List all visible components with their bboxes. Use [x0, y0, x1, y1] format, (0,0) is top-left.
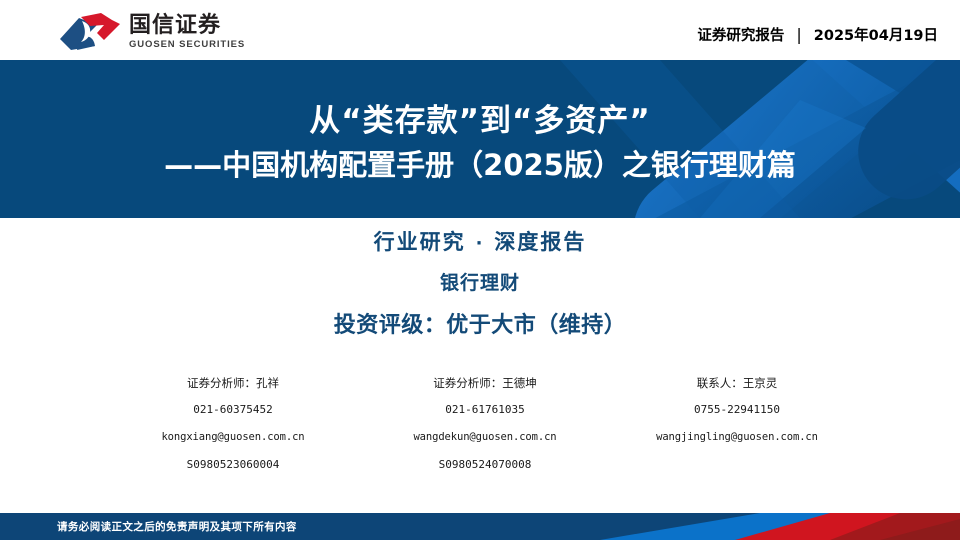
guosen-logo-mark-icon	[57, 11, 123, 53]
analyst-contacts: 证券分析师：孔祥 021-60375452 kongxiang@guosen.c…	[120, 378, 850, 470]
banner-title-block: 从“类存款”到“多资产” ——中国机构配置手册（2025版）之银行理财篇	[0, 60, 960, 218]
analyst-name: 联系人：王京灵	[624, 378, 850, 390]
analyst-email[interactable]: wangjingling@guosen.com.cn	[624, 432, 850, 443]
analyst-phone[interactable]: 0755-22941150	[624, 404, 850, 415]
report-kind-label: 证券研究报告	[697, 24, 784, 45]
analyst-email[interactable]: wangdekun@guosen.com.cn	[372, 432, 598, 443]
sector-label: 银行理财	[0, 274, 960, 293]
analyst-email[interactable]: kongxiang@guosen.com.cn	[120, 432, 346, 443]
title-banner: 从“类存款”到“多资产” ——中国机构配置手册（2025版）之银行理财篇	[0, 60, 960, 218]
meta-dot-separator: ·	[466, 233, 495, 254]
analyst-phone[interactable]: 021-60375452	[120, 404, 346, 415]
slide-footer: 请务必阅读正文之后的免责声明及其项下所有内容	[0, 513, 960, 540]
analyst-name: 证券分析师：孔祥	[120, 378, 346, 390]
guosen-logo: 国信证券 GUOSEN SECURITIES	[57, 11, 245, 53]
analyst-phone[interactable]: 021-61761035	[372, 404, 598, 415]
analyst-license-number: S0980523060004	[120, 459, 346, 470]
report-title-subtitle: ——中国机构配置手册（2025版）之银行理财篇	[164, 142, 796, 184]
header-separator: |	[794, 25, 803, 44]
analyst-column: 证券分析师：孔祥 021-60375452 kongxiang@guosen.c…	[120, 378, 346, 470]
report-title-main: 从“类存款”到“多资产”	[309, 95, 651, 140]
research-category-row: 行业研究·深度报告	[0, 232, 960, 253]
logo-wordmark: 国信证券 GUOSEN SECURITIES	[129, 14, 245, 50]
report-meta-block: 行业研究·深度报告 银行理财 投资评级：优于大市（维持）	[0, 232, 960, 337]
report-cover-slide: 国信证券 GUOSEN SECURITIES 证券研究报告 | 2025年04月…	[0, 0, 960, 540]
investment-rating: 投资评级：优于大市（维持）	[0, 315, 960, 337]
analyst-column: 联系人：王京灵 0755-22941150 wangjingling@guose…	[624, 378, 850, 470]
report-depth-type: 深度报告	[494, 230, 586, 254]
slide-header: 国信证券 GUOSEN SECURITIES 证券研究报告 | 2025年04月…	[0, 0, 960, 60]
footer-disclaimer: 请务必阅读正文之后的免责声明及其项下所有内容	[57, 513, 297, 540]
header-meta: 证券研究报告 | 2025年04月19日	[697, 24, 938, 45]
analyst-license-number: S0980524070008	[372, 459, 598, 470]
analyst-license-number	[624, 459, 850, 470]
analyst-name: 证券分析师：王德坤	[372, 378, 598, 390]
logo-english-name: GUOSEN SECURITIES	[129, 39, 245, 50]
research-category: 行业研究	[374, 230, 466, 254]
logo-chinese-name: 国信证券	[129, 14, 245, 37]
report-date: 2025年04月19日	[814, 24, 938, 45]
analyst-column: 证券分析师：王德坤 021-61761035 wangdekun@guosen.…	[372, 378, 598, 470]
